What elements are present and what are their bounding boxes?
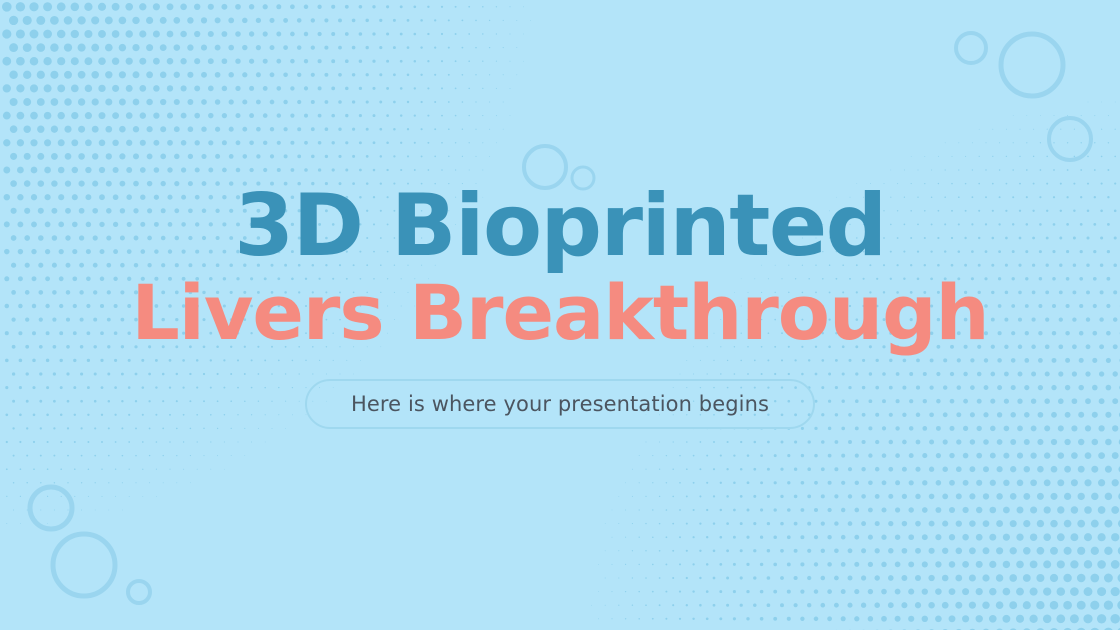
presentation-slide: 3D Bioprinted Livers Breakthrough Here i… [0,0,1120,630]
title-line-primary: 3D Bioprinted [131,183,988,269]
slide-content: 3D Bioprinted Livers Breakthrough Here i… [0,0,1120,630]
subtitle-pill[interactable]: Here is where your presentation begins [305,379,815,429]
title-line-accent: Livers Breakthrough [131,275,988,351]
subtitle-text: Here is where your presentation begins [351,392,769,416]
slide-title: 3D Bioprinted Livers Breakthrough [131,183,988,351]
